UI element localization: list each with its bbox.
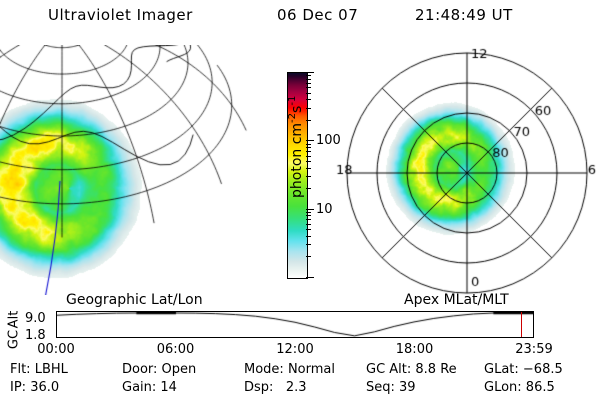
status-field-label: Dsp: [244,380,278,395]
status-field-value: 8.8 Re [415,362,456,377]
status-field-value: Open [162,362,197,377]
time-cursor[interactable] [521,312,522,337]
colorbar-tick [306,168,311,169]
colorbar-tick [306,229,311,230]
status-field-value: −68.5 [523,362,563,377]
colorbar-tick [306,212,311,213]
timeline-time-tick: 12:00 [265,342,325,357]
colorbar-tick [306,215,311,216]
status-field-label: Seq: [366,380,399,395]
status-field-label: Gain: [122,380,160,395]
timeline-ymax-label: 9.0 [25,311,46,326]
geo-plot-title: Geographic Lat/Lon [66,292,203,308]
header-bar: Ultraviolet Imager 06 Dec 07 21:48:49 UT [0,6,600,30]
status-field-value: 2.3 [278,380,307,395]
colorbar-tick [306,277,314,278]
status-field: Mode: Normal [244,362,335,377]
colorbar-tick [306,87,311,88]
colorbar-tick [306,209,314,210]
timeline-time-tick: 18:00 [385,342,445,357]
status-field: GLon: 86.5 [484,380,555,395]
colorbar-tick [306,79,311,80]
colorbar-axis-title: photon cm-2s-1 [287,72,305,222]
status-field-label: GLon: [484,380,526,395]
status-field: GLat: −68.5 [484,362,563,377]
colorbar: photon cm-2s-1 10010 [265,60,325,300]
colorbar-tick [306,219,311,220]
timeline-ylabel-gc: GC [7,323,22,357]
ultraviolet-imager-display: Ultraviolet Imager 06 Dec 07 21:48:49 UT… [0,0,600,400]
status-field-value: 39 [399,380,416,395]
colorbar-tick [306,93,311,94]
status-field-value: 36.0 [30,380,59,395]
apex-aurora-image [330,45,600,295]
colorbar-tick [306,161,311,162]
altitude-timeline: Geographic Lat/Lon Apex MLat/MLT Alt GC … [0,290,600,360]
colorbar-tick [306,188,311,189]
colorbar-tick [306,236,311,237]
colorbar-tick [306,75,311,76]
observation-time: 21:48:49 UT [415,6,513,24]
status-field-value: LBHL [35,362,68,377]
colorbar-tick [306,144,311,145]
colorbar-tick [306,99,311,100]
timeline-ymin-label: 1.8 [25,328,46,343]
colorbar-tick [306,151,311,152]
timeline-time-tick: 00:00 [26,342,86,357]
colorbar-tick [306,72,314,73]
colorbar-tick [306,147,311,148]
colorbar-tick [306,140,314,141]
colorbar-tick [306,156,311,157]
colorbar-tick [306,176,311,177]
status-field: Door: Open [122,362,196,377]
status-field-label: GLat: [484,362,523,377]
status-block: Flt: LBHLDoor: OpenMode: NormalGC Alt: 8… [0,362,600,400]
status-field-label: IP: [10,380,30,395]
colorbar-tick [306,256,311,257]
status-field-value: 86.5 [526,380,555,395]
observation-date: 06 Dec 07 [277,6,358,24]
timeline-time-tick: 06:00 [146,342,206,357]
colorbar-tick [306,120,311,121]
status-field-label: Flt: [10,362,35,377]
status-field-label: GC Alt: [366,362,415,377]
colorbar-tick [306,244,311,245]
status-field-value: Normal [288,362,335,377]
status-field-value: 14 [160,380,177,395]
status-field: IP: 36.0 [10,380,59,395]
colorbar-tick [306,83,311,84]
status-field-label: Door: [122,362,162,377]
colorbar-tick [306,224,311,225]
timeline-time-tick: 23:59 [504,342,564,357]
status-field-label: Mode: [244,362,288,377]
status-field: GC Alt: 8.8 Re [366,362,457,377]
status-field: Seq: 39 [366,380,416,395]
altitude-trace [57,312,533,337]
colorbar-ticks [306,72,316,279]
colorbar-tick [306,108,311,109]
apex-plot-title: Apex MLat/MLT [404,292,509,308]
geographic-aurora-image [0,45,265,295]
status-field: Flt: LBHL [10,362,68,377]
status-field: Dsp: 2.3 [244,380,307,395]
status-field: Gain: 14 [122,380,177,395]
instrument-title: Ultraviolet Imager [48,6,193,24]
